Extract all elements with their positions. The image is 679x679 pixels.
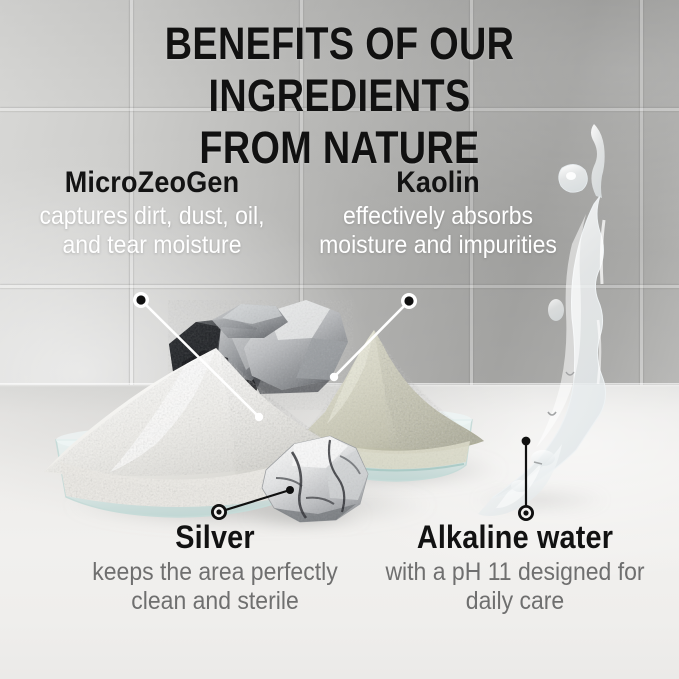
pointer-alkaline-water [518, 437, 534, 521]
callout-kaolin-title: Kaolin [303, 166, 573, 200]
callout-kaolin-desc-line-1: effectively absorbs [300, 202, 576, 231]
page-title: BENEFITS OF OUR INGREDIENTS FROM NATURE [54, 18, 624, 174]
callout-kaolin-desc-line-2: moisture and impurities [300, 231, 576, 260]
callout-kaolin: Kaolin effectively absorbs moisture and … [288, 166, 588, 260]
pointer-silver [211, 486, 294, 520]
pointer-kaolin [330, 293, 417, 381]
page-title-line-1: BENEFITS OF OUR INGREDIENTS [54, 18, 624, 122]
callout-silver-desc-line-1: keeps the area perfectly [59, 558, 372, 587]
callout-microzeogen: MicroZeoGen captures dirt, dust, oil, an… [8, 166, 296, 260]
callout-alkaline-water-title: Alkaline water [371, 519, 659, 555]
callout-alkaline-water-desc-line-1: with a pH 11 designed for [368, 558, 662, 587]
callout-silver: Silver keeps the area perfectly clean an… [45, 519, 385, 616]
callout-alkaline-water: Alkaline water with a pH 11 designed for… [355, 519, 675, 616]
callout-alkaline-water-desc-line-2: daily care [368, 587, 662, 616]
callout-silver-title: Silver [62, 519, 368, 555]
ingredient-benefits-infographic: BENEFITS OF OUR INGREDIENTS FROM NATURE … [0, 0, 679, 679]
callout-microzeogen-title: MicroZeoGen [22, 166, 281, 200]
callout-silver-desc-line-2: clean and sterile [59, 587, 372, 616]
callout-microzeogen-desc-line-1: captures dirt, dust, oil, [20, 202, 285, 231]
callout-microzeogen-desc-line-2: and tear moisture [20, 231, 285, 260]
pointer-microzeogen [133, 292, 263, 421]
